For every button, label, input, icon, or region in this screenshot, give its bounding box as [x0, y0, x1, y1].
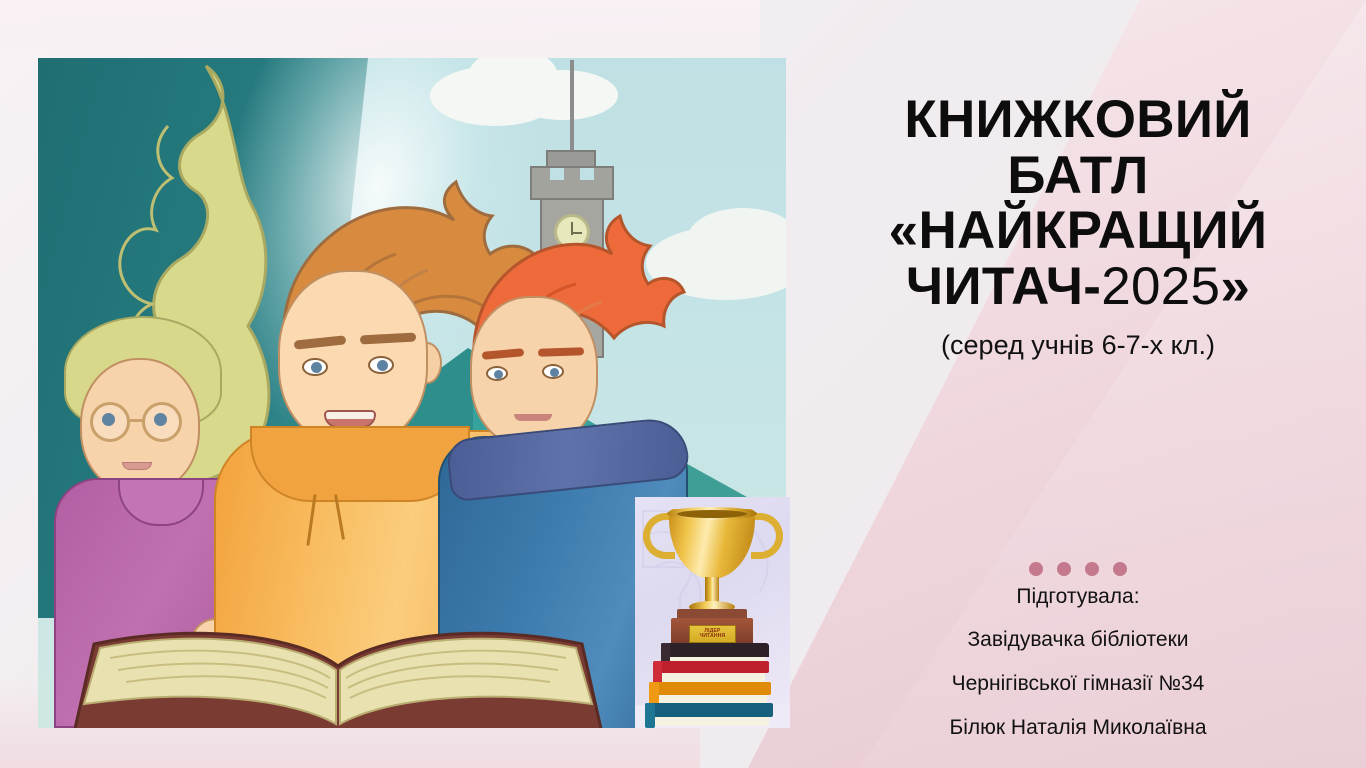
boy-center-eye-left — [302, 358, 328, 376]
title-line-4-suffix: » — [1220, 257, 1250, 316]
book-spine-blue — [645, 703, 655, 728]
book-blue — [645, 703, 773, 717]
book-red — [653, 661, 769, 673]
slide-title-block: КНИЖКОВИЙ БАТЛ «НАЙКРАЩИЙ ЧИТАЧ-2025» (с… — [812, 92, 1344, 361]
girl-eye-left — [102, 413, 115, 426]
boy-right-eyebrow-right — [538, 347, 584, 357]
boy-center-eye-right — [368, 356, 394, 374]
author-line-school: Чернігівської гімназії №34 — [812, 673, 1344, 694]
dot-icon — [1113, 562, 1127, 576]
trophy-cup-inner — [677, 510, 747, 518]
slide-subtitle: (серед учнів 6-7-х кл.) — [812, 329, 1344, 361]
author-line-name: Білюк Наталія Миколаївна — [812, 717, 1344, 738]
dot-icon — [1057, 562, 1071, 576]
presentation-slide: ЛІДЕР ЧИТАННЯ КНИЖКОВИЙ БАТЛ «НАЙКРАЩИЙ … — [0, 0, 1366, 768]
dot-icon — [1085, 562, 1099, 576]
title-line-4: ЧИТАЧ-2025» — [812, 259, 1344, 315]
book-black — [661, 643, 769, 657]
trophy-plaque: ЛІДЕР ЧИТАННЯ — [689, 625, 736, 643]
open-book — [58, 618, 618, 728]
decorative-dots — [812, 562, 1344, 576]
title-line-1: КНИЖКОВИЙ — [812, 92, 1344, 148]
title-year: 2025 — [1101, 257, 1220, 316]
boy-right-mouth — [514, 414, 552, 421]
title-line-3: «НАЙКРАЩИЙ — [812, 203, 1344, 259]
author-line-prepared-by: Підготувала: — [812, 586, 1344, 607]
clock-tower-spire — [570, 60, 574, 156]
trophy-award-image: ЛІДЕР ЧИТАННЯ — [635, 497, 790, 728]
boy-right-eye-right — [542, 364, 564, 379]
title-line-2: БАТЛ — [812, 148, 1344, 204]
cloud-icon — [508, 70, 618, 120]
boy-center-hood — [250, 426, 470, 502]
boy-right-eye-left — [486, 366, 508, 381]
girl-eye-right — [154, 413, 167, 426]
author-line-role: Завідувачка бібліотеки — [812, 629, 1344, 650]
title-line-4-prefix: ЧИТАЧ- — [906, 257, 1101, 316]
book-orange — [649, 682, 771, 695]
plaque-line-2: ЧИТАННЯ — [700, 634, 726, 639]
author-credits-block: Підготувала: Завідувачка бібліотеки Черн… — [812, 586, 1344, 738]
girl-mouth — [122, 462, 152, 470]
dot-icon — [1029, 562, 1043, 576]
